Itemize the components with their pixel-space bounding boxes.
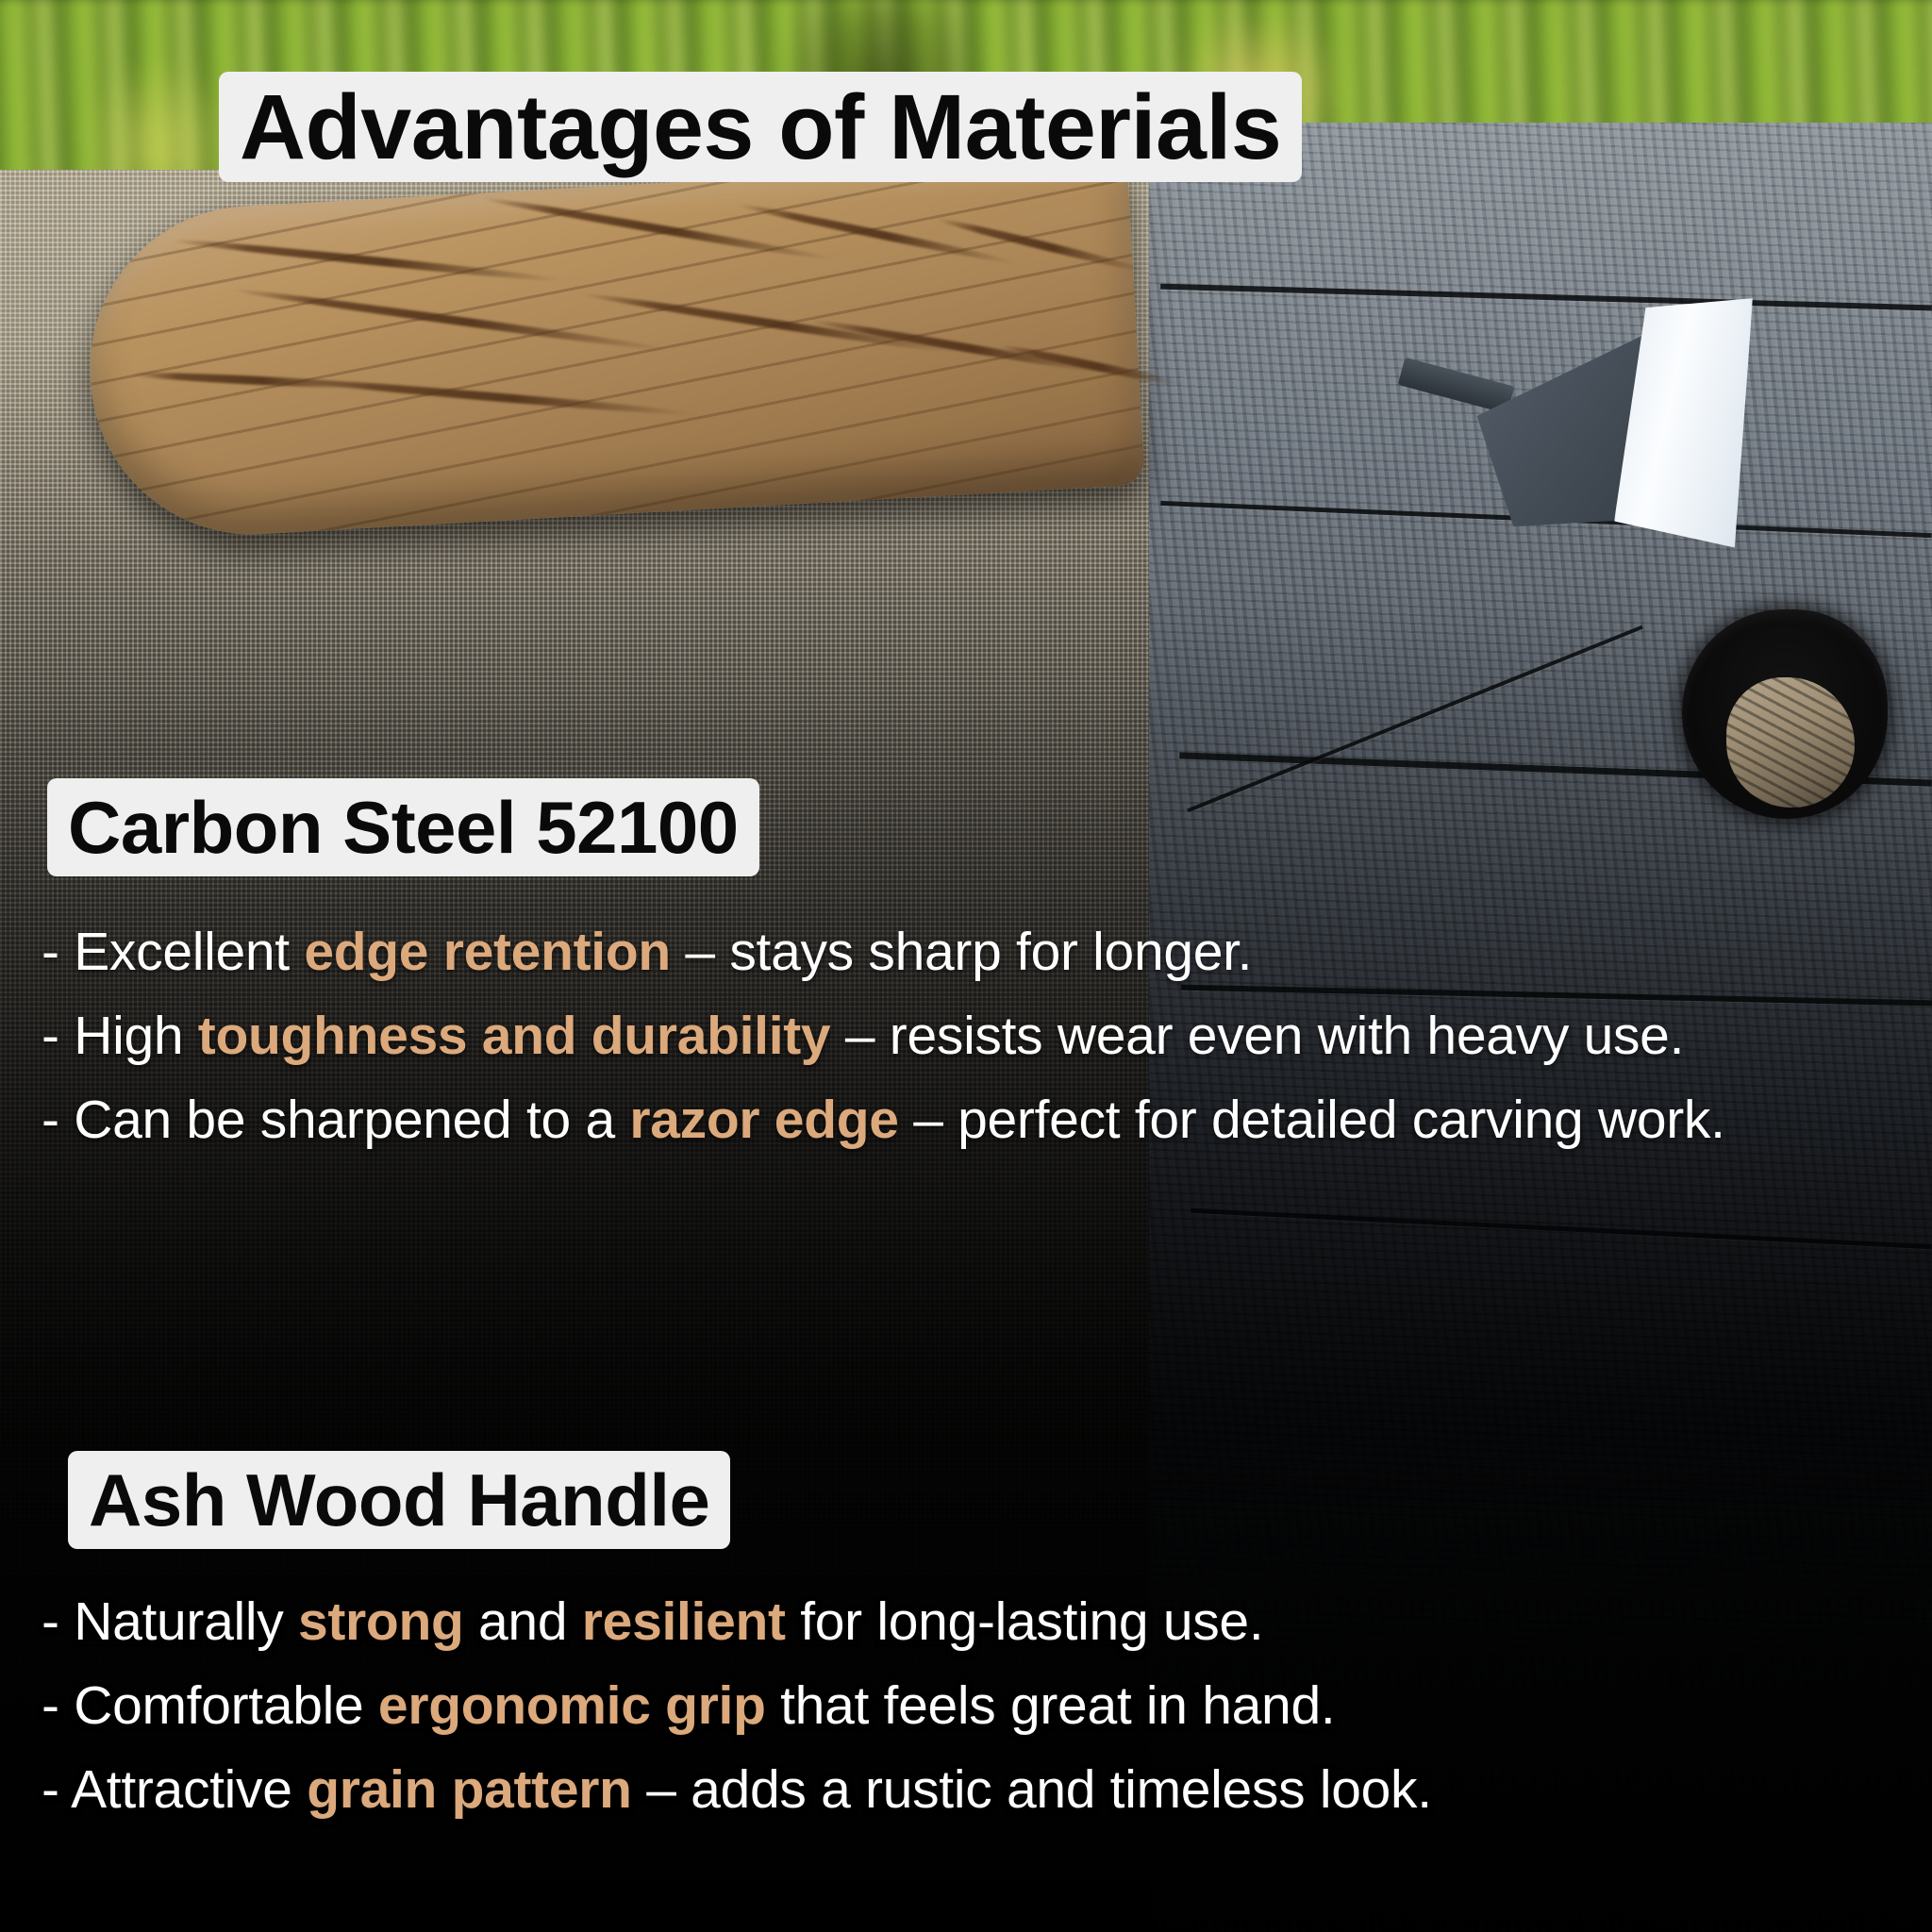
- bullet-text: – perfect for detailed carving work.: [899, 1090, 1725, 1150]
- highlight-term: grain pattern: [307, 1759, 631, 1820]
- page-title: Advantages of Materials: [219, 72, 1302, 182]
- bullet-text: - Attractive: [42, 1759, 307, 1820]
- highlight-term: strong: [298, 1591, 464, 1652]
- bullet-text: – resists wear even with heavy use.: [830, 1006, 1684, 1066]
- section-body-ash-wood: - Naturally strong and resilient for lon…: [42, 1580, 1896, 1832]
- section-body-carbon-steel: - Excellent edge retention – stays sharp…: [42, 910, 1896, 1162]
- bullet-text: for long-lasting use.: [786, 1591, 1264, 1652]
- bullet-text: – adds a rustic and timeless look.: [632, 1759, 1432, 1820]
- bullet-text: and: [464, 1591, 582, 1652]
- highlight-term: razor edge: [629, 1090, 898, 1150]
- highlight-term: ergonomic grip: [378, 1675, 766, 1736]
- bullet-line: - High toughness and durability – resist…: [42, 994, 1896, 1078]
- bullet-line: - Excellent edge retention – stays sharp…: [42, 910, 1896, 994]
- bullet-line: - Attractive grain pattern – adds a rust…: [42, 1748, 1896, 1832]
- bullet-text: - Can be sharpened to a: [42, 1090, 629, 1150]
- bullet-text: - High: [42, 1006, 198, 1066]
- highlight-term: edge retention: [304, 922, 671, 982]
- text-overlay: Advantages of Materials Carbon Steel 521…: [0, 0, 1932, 1932]
- infographic-canvas: Advantages of Materials Carbon Steel 521…: [0, 0, 1932, 1932]
- bullet-text: that feels great in hand.: [766, 1675, 1336, 1736]
- bullet-text: - Excellent: [42, 922, 304, 982]
- bullet-text: – stays sharp for longer.: [671, 922, 1252, 982]
- bullet-text: - Naturally: [42, 1591, 298, 1652]
- highlight-term: toughness and durability: [198, 1006, 831, 1066]
- section-heading-carbon-steel: Carbon Steel 52100: [47, 778, 759, 876]
- bullet-line: - Can be sharpened to a razor edge – per…: [42, 1078, 1896, 1162]
- bullet-line: - Naturally strong and resilient for lon…: [42, 1580, 1896, 1664]
- section-heading-ash-wood: Ash Wood Handle: [68, 1451, 730, 1549]
- highlight-term: resilient: [582, 1591, 786, 1652]
- bullet-line: - Comfortable ergonomic grip that feels …: [42, 1664, 1896, 1748]
- bullet-text: - Comfortable: [42, 1675, 378, 1736]
